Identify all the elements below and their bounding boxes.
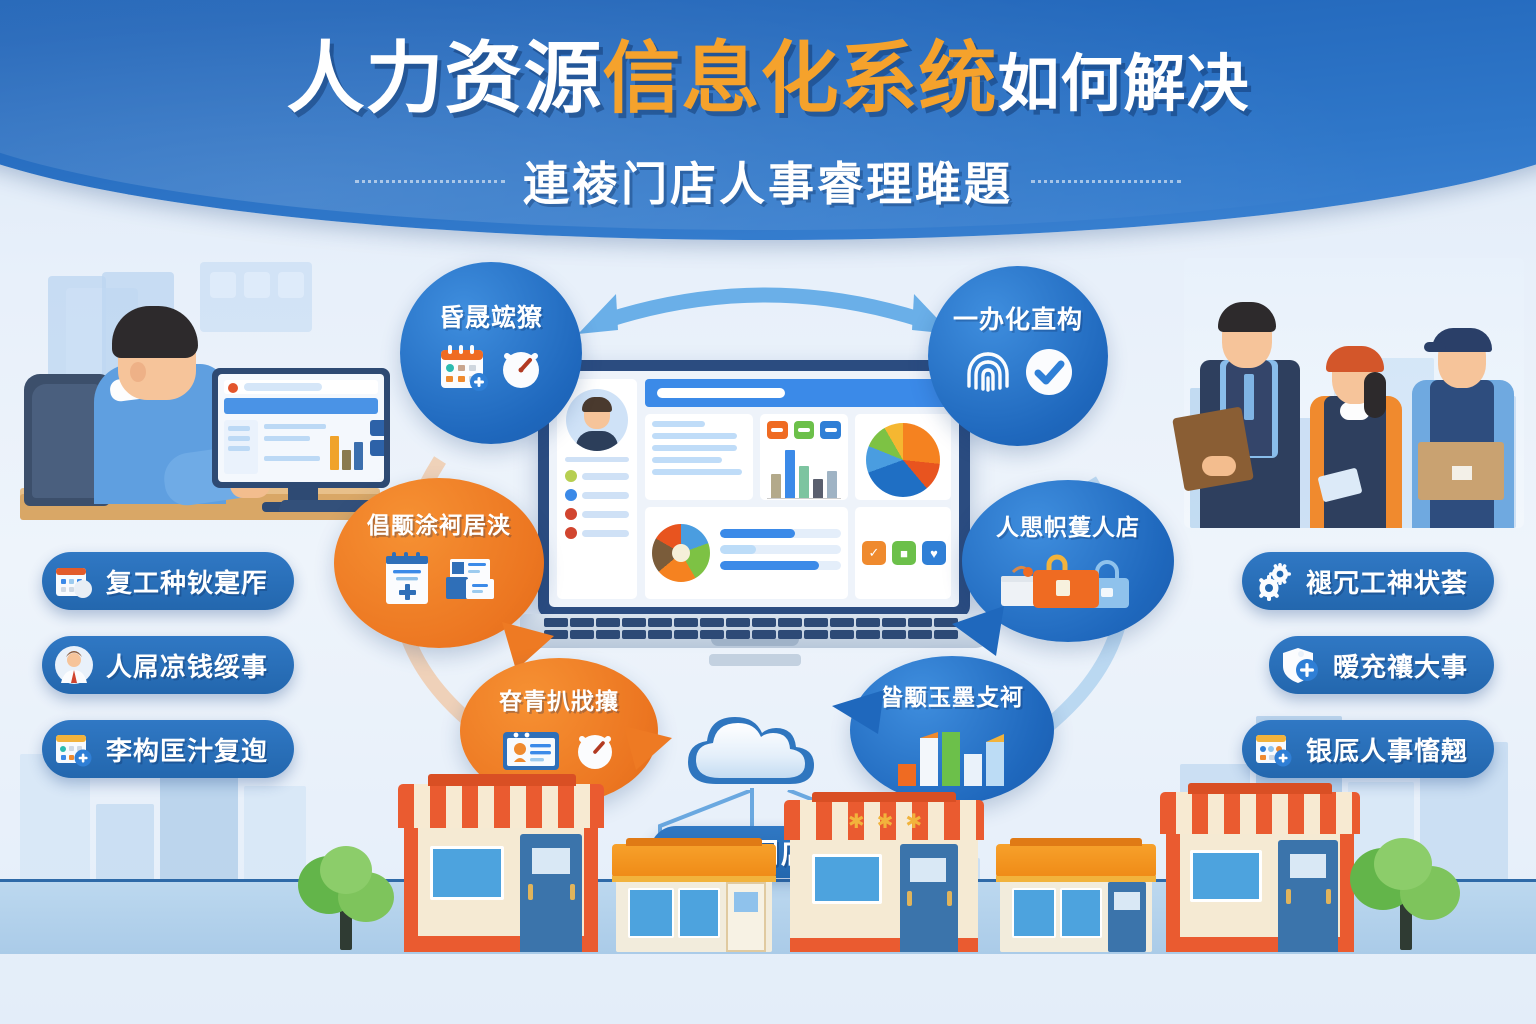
worker-hair	[112, 306, 198, 358]
list-item[interactable]	[565, 508, 629, 520]
user-badge-icon	[54, 645, 94, 685]
bubble-icons	[437, 342, 545, 394]
tree-right	[1348, 820, 1468, 950]
subtitle-divider-left	[355, 180, 505, 183]
left-pill-2[interactable]: 人屌凉钱绥事	[42, 636, 294, 694]
page-title: 人力资源信息化系统如何解决	[0, 38, 1536, 120]
shield-check-icon: ✓	[862, 541, 886, 565]
laptop-device: ✓ ■ ♥	[520, 360, 990, 670]
info-panel	[645, 414, 753, 500]
bubble-icons	[499, 724, 619, 776]
bubble-mid-right-tail	[942, 600, 1012, 664]
fingerprint-icon	[960, 344, 1016, 400]
office-chair-cushion	[32, 384, 102, 498]
list-item[interactable]	[565, 470, 629, 482]
bubble-label: 昚青扒戕攘	[499, 682, 619, 716]
monitor-status-dot	[228, 383, 238, 393]
title-segment-1: 人力资源	[286, 34, 602, 122]
progress-bar	[720, 561, 841, 570]
staff-manager	[1190, 302, 1306, 528]
pie-chart	[866, 423, 940, 497]
pill-label: 银厎人事慉翹	[1306, 731, 1468, 768]
calendar-plus-icon	[54, 729, 94, 769]
left-pill-3[interactable]: 李构匡汁复迿	[42, 720, 294, 778]
bar-chart	[767, 445, 841, 499]
chart-panel	[760, 414, 848, 500]
staff-stock-worker	[1404, 312, 1522, 528]
page-subtitle: 連祾门店人事睿理雎題	[523, 148, 1013, 214]
laptop-trackpad	[709, 654, 801, 666]
bubble-label: 昏晟竤獠	[439, 298, 543, 334]
avatar	[566, 389, 628, 451]
status-chips	[767, 421, 841, 439]
laptop-notch	[711, 639, 799, 646]
worker-ear	[130, 362, 146, 382]
clock-icon	[497, 344, 545, 392]
hr-dashboard: ✓ ■ ♥	[557, 379, 951, 599]
pill-label: 褪冗工神状荟	[1306, 563, 1468, 600]
calendar-icon	[437, 342, 491, 394]
status-badge[interactable]	[767, 421, 788, 439]
pill-label: 暧充禳大事	[1333, 647, 1468, 684]
storefront-1	[398, 780, 604, 952]
right-pill-1[interactable]: 褪冗工神状荟	[1242, 552, 1494, 610]
bubble-label: 人愳帜蒦人店	[996, 508, 1140, 542]
title-segment-3: 如何解决	[998, 50, 1250, 119]
donut-chart	[652, 524, 710, 582]
bubble-bottom-left-tail	[620, 722, 684, 776]
pill-label: 复工种钬寔厏	[106, 563, 268, 600]
bubble-icons	[993, 550, 1143, 612]
briefcase-icon	[993, 550, 1143, 612]
laptop-lid: ✓ ■ ♥	[538, 360, 970, 618]
calendar-plus-icon	[1254, 729, 1294, 769]
status-badge[interactable]	[794, 421, 815, 439]
title-segment-2: 信息化系统	[602, 34, 997, 122]
id-card-icon	[499, 724, 565, 776]
storefront-10	[996, 836, 1156, 952]
document-icon	[380, 548, 436, 608]
bubble-label: 昝颙玉墨攴袔	[880, 678, 1024, 712]
bubble-label: 倡颙涂袔居浃	[367, 506, 511, 540]
search-input[interactable]	[657, 388, 785, 398]
left-pill-1[interactable]: 复工种钬寔厏	[42, 552, 294, 610]
card-list-icon	[442, 551, 498, 605]
list-item[interactable]	[565, 527, 629, 539]
dashboard-sidebar[interactable]	[557, 379, 637, 599]
tree-left	[292, 830, 402, 950]
infographic-poster: 人力资源信息化系统如何解决 連祾门店人事睿理雎題	[0, 0, 1536, 1024]
badges-panel: ✓ ■ ♥	[855, 507, 951, 599]
clock-icon	[571, 726, 619, 774]
bubble-icons	[960, 344, 1076, 400]
staff-cashier	[1300, 332, 1412, 528]
bubble-label: 一办化直构	[953, 300, 1083, 336]
progress-bar	[720, 545, 841, 554]
shield-heart-icon: ♥	[922, 541, 946, 565]
check-circle-icon	[1022, 345, 1076, 399]
calendar-clock-icon	[54, 561, 94, 601]
bubble-icons	[892, 724, 1012, 786]
right-pill-3[interactable]: 银厎人事慉翹	[1242, 720, 1494, 778]
store-staff-scene	[1184, 258, 1524, 528]
laptop-screen: ✓ ■ ♥	[549, 371, 959, 607]
bar-chart-icon	[892, 724, 1012, 786]
right-pill-2[interactable]: 暧充禳大事	[1269, 636, 1494, 694]
pill-label: 人屌凉钱绥事	[106, 647, 268, 684]
pill-label: 李构匡汁复迿	[106, 731, 268, 768]
bubble-top-right[interactable]: 一办化直构	[928, 266, 1108, 446]
storefront-orange-b	[846, 842, 1002, 952]
laptop-keyboard	[544, 618, 966, 640]
list-item[interactable]	[565, 489, 629, 501]
shield-badges: ✓ ■ ♥	[862, 541, 946, 565]
bubble-icons	[380, 548, 498, 608]
shop-sign-glyphs: ✱✱✱	[830, 808, 940, 834]
cloud-icon	[676, 700, 846, 792]
bubble-top-left[interactable]: 昏晟竤獠	[400, 262, 582, 444]
dashboard-topbar	[645, 379, 951, 407]
shield-plus-icon	[1281, 645, 1321, 685]
pie-chart-panel	[855, 414, 951, 500]
subtitle-divider-right	[1031, 180, 1181, 183]
storefront-2	[612, 836, 776, 952]
subtitle-row: 連祾门店人事睿理雎題	[0, 148, 1536, 214]
status-badge[interactable]	[820, 421, 841, 439]
progress-bar	[720, 529, 841, 538]
storefront-11	[1160, 786, 1360, 952]
progress-panel	[645, 507, 848, 599]
shield-icon: ■	[892, 541, 916, 565]
gears-icon	[1254, 561, 1294, 601]
